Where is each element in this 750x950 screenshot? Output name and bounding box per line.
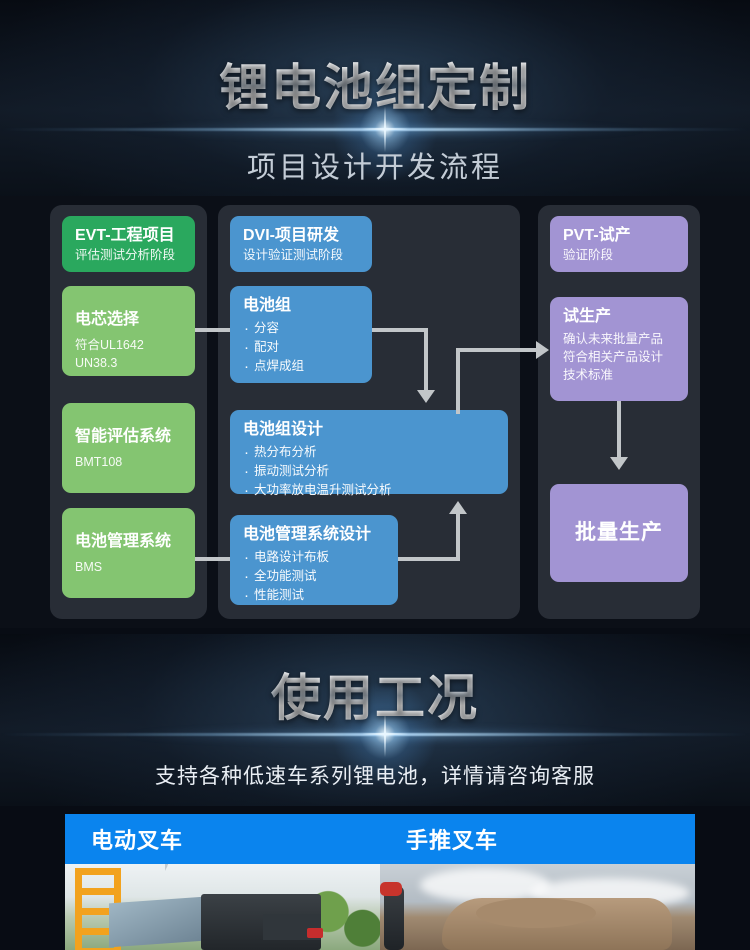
cloud-shape	[420, 868, 550, 902]
flow-node-subtitle: 设计验证测试阶段	[243, 246, 359, 264]
flow-node-title: 电池管理系统	[75, 532, 182, 552]
connector-pack-vertical	[424, 328, 428, 391]
flow-node-title: 批量生产	[575, 520, 663, 546]
list-item: 电路设计布板	[243, 548, 385, 567]
connector-cell-to-pack	[195, 328, 230, 332]
subject-highlight-shape	[476, 898, 596, 928]
flow-node-smart-evaluation[interactable]: 智能评估系统 BMT108	[62, 403, 195, 493]
connector-bmsdesign-vertical	[456, 514, 460, 561]
flow-node-subtitle: 评估测试分析阶段	[75, 246, 182, 264]
flow-node-mass-production[interactable]: 批量生产	[550, 484, 688, 582]
flow-node-trial-production[interactable]: 试生产 确认未来批量产品符合相关产品设计技术标准	[550, 297, 688, 401]
flow-node-title: 智能评估系统	[75, 427, 182, 447]
list-item: 点焊成组	[243, 357, 359, 376]
connector-bmsdesign-horizontal	[398, 557, 460, 561]
flow-node-title: EVT-工程项目	[75, 226, 182, 246]
flow-node-title: 电芯选择	[75, 310, 182, 330]
flow-node-title: DVI-项目研发	[243, 226, 359, 246]
connector-trial-to-mass-vertical	[617, 401, 621, 458]
connector-arrow-right-to-trialproduction	[536, 341, 549, 359]
flow-node-pack-design[interactable]: 电池组设计 热分布分析 振动测试分析 大功率放电温升测试分析	[230, 410, 508, 494]
list-item: 分容	[243, 319, 359, 338]
list-item: 配对	[243, 338, 359, 357]
section-title-usage: 使用工况	[0, 658, 750, 730]
connector-arrow-down-to-packdesign	[417, 390, 435, 403]
product-card-photo-pallet-truck	[380, 864, 695, 950]
list-item: 全功能测试	[243, 567, 385, 586]
flow-node-subtitle: BMS	[75, 558, 182, 576]
flow-node-bms[interactable]: 电池管理系统 BMS	[62, 508, 195, 598]
connector-to-pvt-vertical	[456, 348, 460, 414]
product-card-list: 电动叉车 手推叉车	[0, 806, 750, 950]
product-card-header: 手推叉车	[380, 814, 695, 864]
flow-node-subtitle: BMT108	[75, 453, 182, 471]
product-card-electric-forklift[interactable]: 电动叉车	[65, 814, 380, 950]
process-flow-diagram: EVT-工程项目 评估测试分析阶段 电芯选择 符合UL1642 UN38.3 智…	[0, 196, 750, 628]
flow-node-evt-header[interactable]: EVT-工程项目 评估测试分析阶段	[62, 216, 195, 272]
flow-node-items: 电路设计布板 全功能测试 性能测试	[243, 548, 385, 605]
flow-node-title: PVT-试产	[563, 226, 675, 246]
flow-node-title: 电池组	[243, 296, 359, 316]
flow-node-items: 热分布分析 振动测试分析 大功率放电温升测试分析	[243, 443, 495, 500]
connector-arrow-down-to-massproduction	[610, 457, 628, 470]
flow-node-dvi-header[interactable]: DVI-项目研发 设计验证测试阶段	[230, 216, 372, 272]
list-item: 大功率放电温升测试分析	[243, 481, 495, 500]
list-item: 振动测试分析	[243, 462, 495, 481]
flow-node-cell-selection[interactable]: 电芯选择 符合UL1642 UN38.3	[62, 286, 195, 376]
flow-node-pvt-header[interactable]: PVT-试产 验证阶段	[550, 216, 688, 272]
flow-node-items: 分容 配对 点焊成组	[243, 319, 359, 376]
product-card-label: 电动叉车	[91, 823, 183, 855]
list-item: 热分布分析	[243, 443, 495, 462]
list-item: 性能测试	[243, 586, 385, 605]
connector-bms-to-bmsdesign	[195, 557, 230, 561]
product-card-pallet-truck[interactable]: 手推叉车	[380, 814, 695, 950]
product-card-photo-electric-forklift	[65, 864, 380, 950]
section-lead-text: 支持各种低速车系列锂电池，详情请咨询客服	[0, 760, 750, 790]
pallet-truck-grip-shape	[380, 882, 402, 896]
product-card-label: 手推叉车	[406, 823, 498, 855]
flow-node-bms-design[interactable]: 电池管理系统设计 电路设计布板 全功能测试 性能测试	[230, 515, 398, 605]
page-subtitle: 项目设计开发流程	[0, 144, 750, 186]
wrapped-pallet-shape	[109, 897, 205, 948]
connector-arrow-up-to-packdesign	[449, 501, 467, 514]
connector-to-pvt-horizontal	[456, 348, 536, 352]
flow-node-title: 试生产	[563, 307, 675, 327]
page-root: 锂电池组定制 项目设计开发流程 EVT-工程项目 评估测试分析阶段 电芯选择 符…	[0, 0, 750, 950]
product-card-header: 电动叉车	[65, 814, 380, 864]
forklift-taillight-shape	[307, 928, 323, 938]
flow-node-battery-pack[interactable]: 电池组 分容 配对 点焊成组	[230, 286, 372, 383]
connector-pack-horizontal	[372, 328, 428, 332]
flow-node-subtitle: 验证阶段	[563, 246, 675, 264]
page-title: 锂电池组定制	[0, 48, 750, 120]
flow-node-title: 电池管理系统设计	[243, 525, 385, 545]
flow-node-title: 电池组设计	[243, 420, 495, 440]
flow-node-subtitle: 符合UL1642 UN38.3	[75, 336, 182, 372]
flow-node-subtitle: 确认未来批量产品符合相关产品设计技术标准	[563, 330, 675, 384]
